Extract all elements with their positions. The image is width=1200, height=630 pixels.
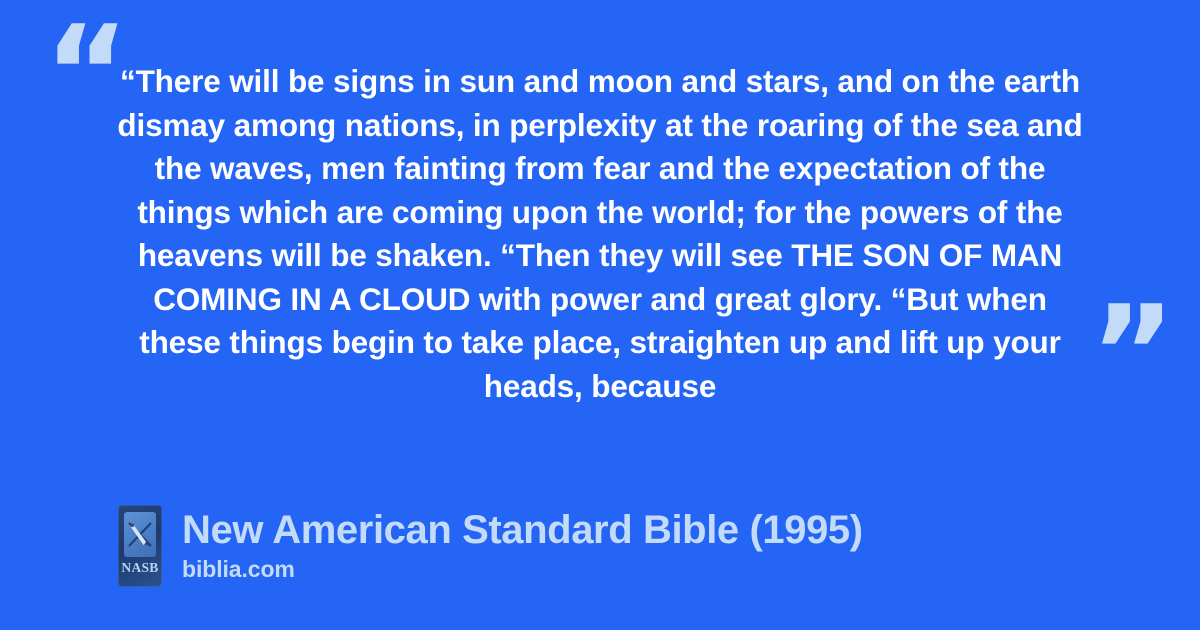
nasb-logo: NASB: [118, 505, 162, 587]
bible-version-title: New American Standard Bible (1995): [182, 506, 863, 554]
quote-block: “There will be signs in sun and moon and…: [110, 60, 1090, 408]
nasb-logo-wordmark: NASB: [118, 561, 162, 575]
nasb-quill-icon: [124, 512, 156, 557]
source-site-label: biblia.com: [182, 554, 863, 584]
quote-text: “There will be signs in sun and moon and…: [110, 60, 1090, 408]
quote-card: “ ” “There will be signs in sun and moon…: [0, 0, 1200, 630]
attribution-text: New American Standard Bible (1995) bibli…: [182, 505, 863, 584]
attribution-footer: NASB New American Standard Bible (1995) …: [118, 505, 863, 587]
closing-quote-icon: ”: [1090, 288, 1173, 418]
